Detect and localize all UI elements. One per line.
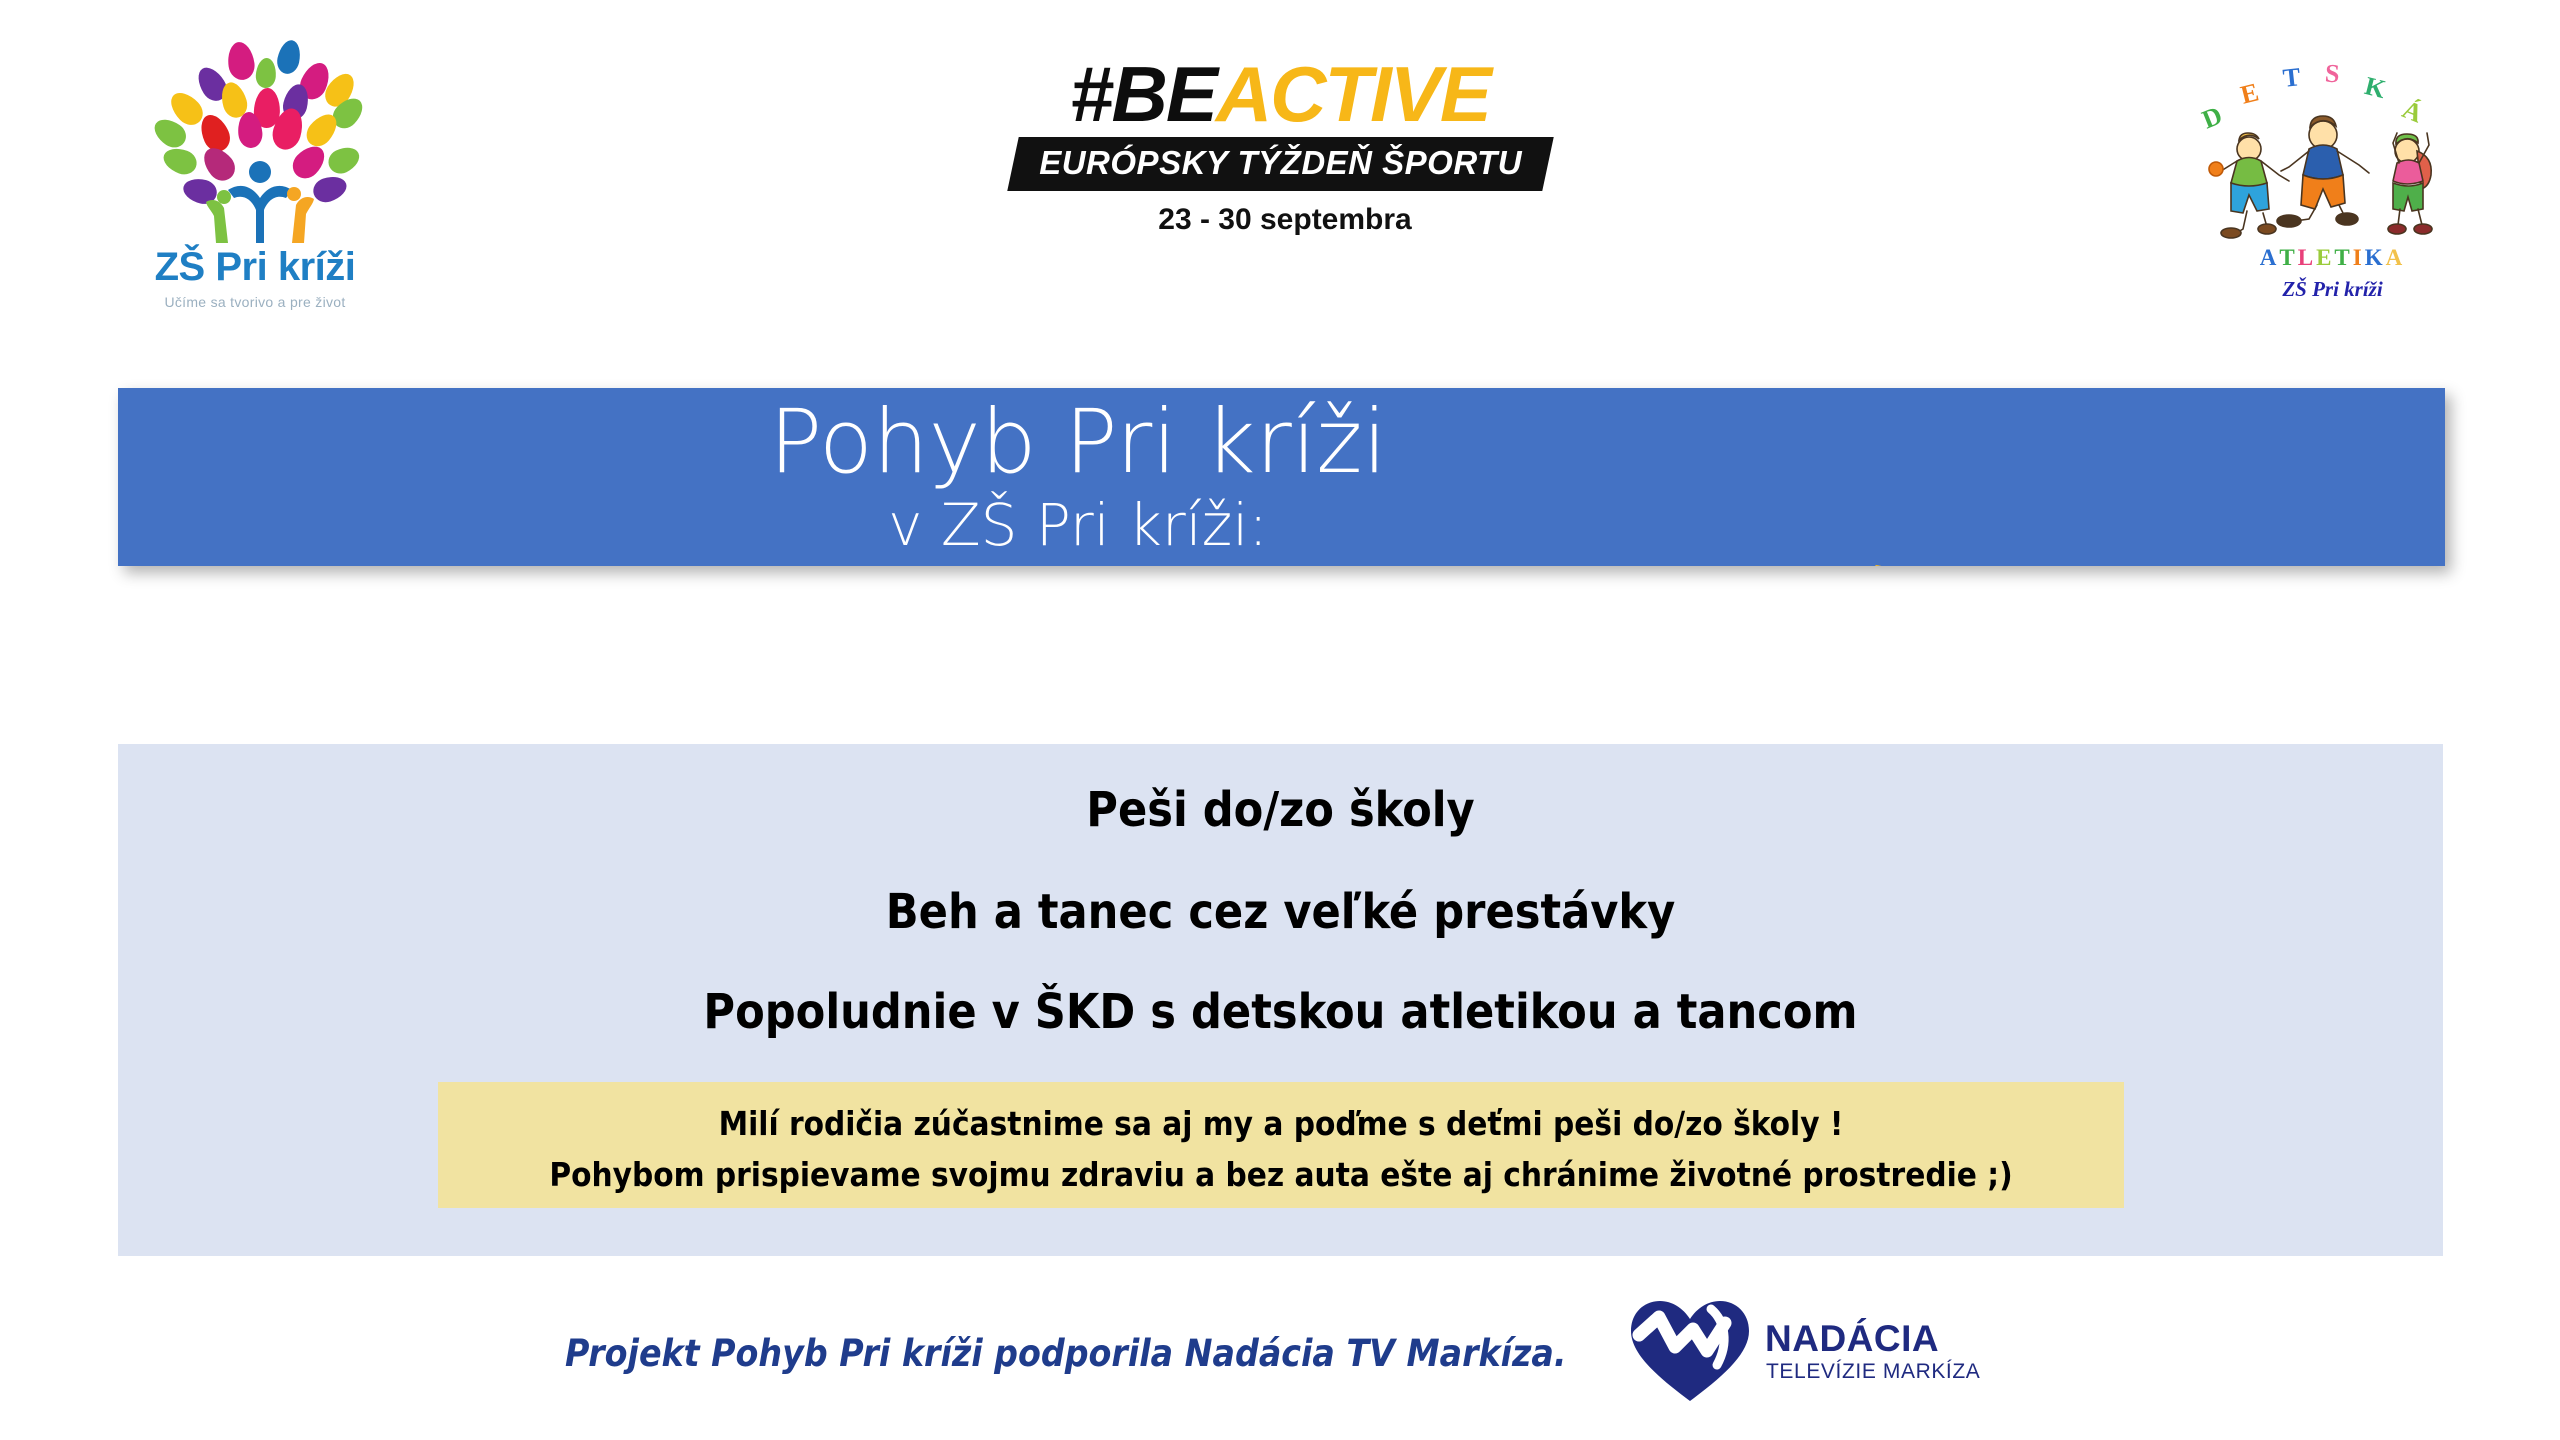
- beactive-logo: #BEACTIVE EURÓPSKY TÝŽDEŇ ŠPORTU 23 - 30…: [970, 55, 1590, 275]
- title-banner: Pohyb Pri kríži v ZŠ Pri kríži: 27.9. – …: [118, 388, 2445, 566]
- parents-note-box: Milí rodičia zúčastnime sa aj my a poďme…: [438, 1082, 2124, 1208]
- tree-of-people-icon: [150, 40, 365, 240]
- atletika-bottom-letter-0: A: [2260, 245, 2280, 271]
- heart-icon: [1625, 1295, 1755, 1405]
- beactive-wordmark: #BEACTIVE: [970, 55, 1590, 133]
- content-panel: Peši do/zo školy Beh a tanec cez veľké p…: [118, 744, 2443, 1256]
- atletika-bottom-letter-3: E: [2316, 245, 2334, 271]
- atletika-bottom-letter-2: L: [2298, 245, 2316, 271]
- activity-item-2: Beh a tanec cez veľké prestávky: [118, 884, 2443, 940]
- three-people-icon: [202, 158, 322, 243]
- nadacia-markiza-logo: NADÁCIA TELEVÍZIE MARKÍZA: [1625, 1290, 1955, 1410]
- sponsor-credit-text: Projekt Pohyb Pri kríži podporila Nadáci…: [565, 1332, 1567, 1375]
- beactive-black-bar: EURÓPSKY TÝŽDEŇ ŠPORTU: [1007, 137, 1553, 191]
- page-subtitle: v ZŠ Pri kríži:: [118, 496, 2038, 554]
- atletika-bottom-letter-4: T: [2334, 245, 2352, 271]
- activity-item-3: Popoludnie v ŠKD s detskou atletikou a t…: [118, 984, 2443, 1040]
- detska-atletika-logo: D E T S K Á: [2185, 45, 2480, 335]
- nadacia-subtitle: TELEVÍZIE MARKÍZA: [1766, 1360, 1980, 1384]
- beactive-bar-wrap: EURÓPSKY TÝŽDEŇ ŠPORTU: [970, 133, 1590, 191]
- atletika-top-letter-3: S: [2324, 59, 2341, 90]
- atletika-top-letter-2: T: [2281, 62, 2301, 94]
- school-logo-tagline: Učíme sa tvorivo a pre život: [110, 294, 400, 310]
- activity-item-1: Peši do/zo školy: [118, 782, 2443, 838]
- parents-note-line-1: Milí rodičia zúčastnime sa aj my a poďme…: [438, 1098, 2124, 1149]
- poster-header: ZŠ Pri kríži Učíme sa tvorivo a pre živo…: [0, 0, 2560, 380]
- atletika-top-letter-4: K: [2362, 71, 2389, 105]
- beactive-bar-text: EURÓPSKY TÝŽDEŇ ŠPORTU: [1039, 144, 1522, 182]
- nadacia-title: NADÁCIA: [1765, 1318, 1939, 1360]
- beactive-date-range: 23 - 30 septembra: [970, 203, 1590, 237]
- atletika-bottom-word: ATLETIKA: [2195, 245, 2470, 271]
- school-logo-name: ZŠ Pri kríži: [110, 245, 400, 290]
- atletika-school-label: ZŠ Pri kríži: [2185, 277, 2480, 302]
- atletika-top-letter-1: E: [2238, 77, 2262, 110]
- atletika-bottom-letter-5: I: [2353, 245, 2365, 271]
- beactive-hash-be: #BE: [1070, 50, 1216, 138]
- parents-note-line-2: Pohybom prispievame svojmu zdraviu a bez…: [438, 1149, 2124, 1200]
- atletika-bottom-letter-6: K: [2365, 245, 2386, 271]
- atletika-bottom-letter-1: T: [2279, 245, 2297, 271]
- beactive-active: ACTIVE: [1216, 50, 1490, 138]
- school-logo: ZŠ Pri kríži Učíme sa tvorivo a pre živo…: [110, 40, 400, 340]
- page-title: Pohyb Pri kríži: [118, 396, 2038, 488]
- atletika-bottom-letter-7: A: [2386, 245, 2406, 271]
- poster-footer: Projekt Pohyb Pri kríži podporila Nadáci…: [0, 1290, 2560, 1420]
- jumping-children-icon: [2203, 107, 2463, 242]
